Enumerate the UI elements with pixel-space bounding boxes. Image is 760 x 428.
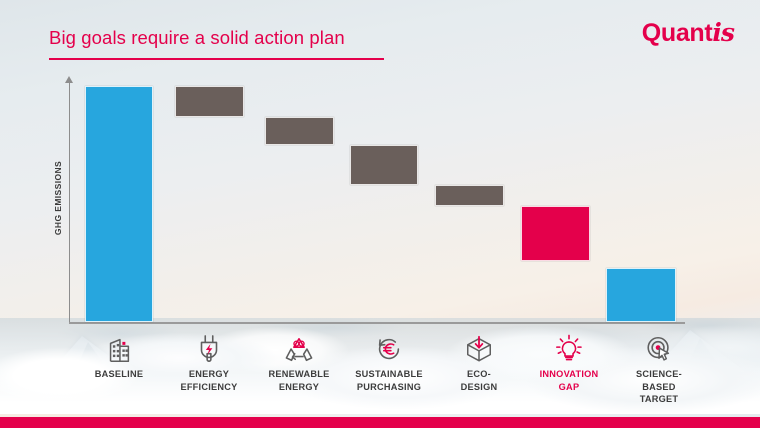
step-label: ECO- DESIGN bbox=[431, 368, 527, 393]
step-renewable-energy[interactable]: RENEWABLE ENERGY bbox=[251, 330, 347, 393]
step-label: BASELINE bbox=[71, 368, 167, 381]
bar-renewable-energy bbox=[265, 117, 334, 145]
step-label: RENEWABLE ENERGY bbox=[251, 368, 347, 393]
lightbulb-idea-icon bbox=[521, 330, 617, 364]
step-science-based-target[interactable]: SCIENCE- BASED TARGET bbox=[611, 330, 707, 406]
x-axis-baseline bbox=[69, 322, 685, 324]
step-energy-efficiency[interactable]: ENERGY EFFICIENCY bbox=[161, 330, 257, 393]
step-label: SUSTAINABLE PURCHASING bbox=[341, 368, 437, 393]
bar-innovation-gap bbox=[521, 206, 590, 260]
bar-sustainable-purchasing bbox=[350, 145, 418, 185]
step-innovation-gap[interactable]: INNOVATION GAP bbox=[521, 330, 617, 393]
y-axis-label: GHG EMISSIONS bbox=[53, 133, 63, 263]
power-plug-bolt-icon bbox=[161, 330, 257, 364]
step-eco-design[interactable]: ECO- DESIGN bbox=[431, 330, 527, 393]
step-label: ENERGY EFFICIENCY bbox=[161, 368, 257, 393]
bar-science-based-target bbox=[606, 268, 676, 322]
package-box-arrow-icon bbox=[431, 330, 527, 364]
footer-accent-bar bbox=[0, 417, 760, 428]
step-label: INNOVATION GAP bbox=[521, 368, 617, 393]
target-cursor-icon bbox=[611, 330, 707, 364]
step-baseline[interactable]: BASELINE bbox=[71, 330, 167, 381]
slide-canvas: Big goals require a solid action plan Qu… bbox=[0, 0, 760, 428]
bar-energy-efficiency bbox=[175, 86, 244, 117]
step-sustainable-purchasing[interactable]: SUSTAINABLE PURCHASING bbox=[341, 330, 437, 393]
recycle-leaf-icon bbox=[251, 330, 347, 364]
bar-eco-design bbox=[435, 185, 504, 206]
bar-baseline bbox=[85, 86, 153, 322]
office-building-icon bbox=[71, 330, 167, 364]
euro-refresh-icon bbox=[341, 330, 437, 364]
step-label: SCIENCE- BASED TARGET bbox=[611, 368, 707, 406]
y-axis-line bbox=[69, 80, 70, 323]
